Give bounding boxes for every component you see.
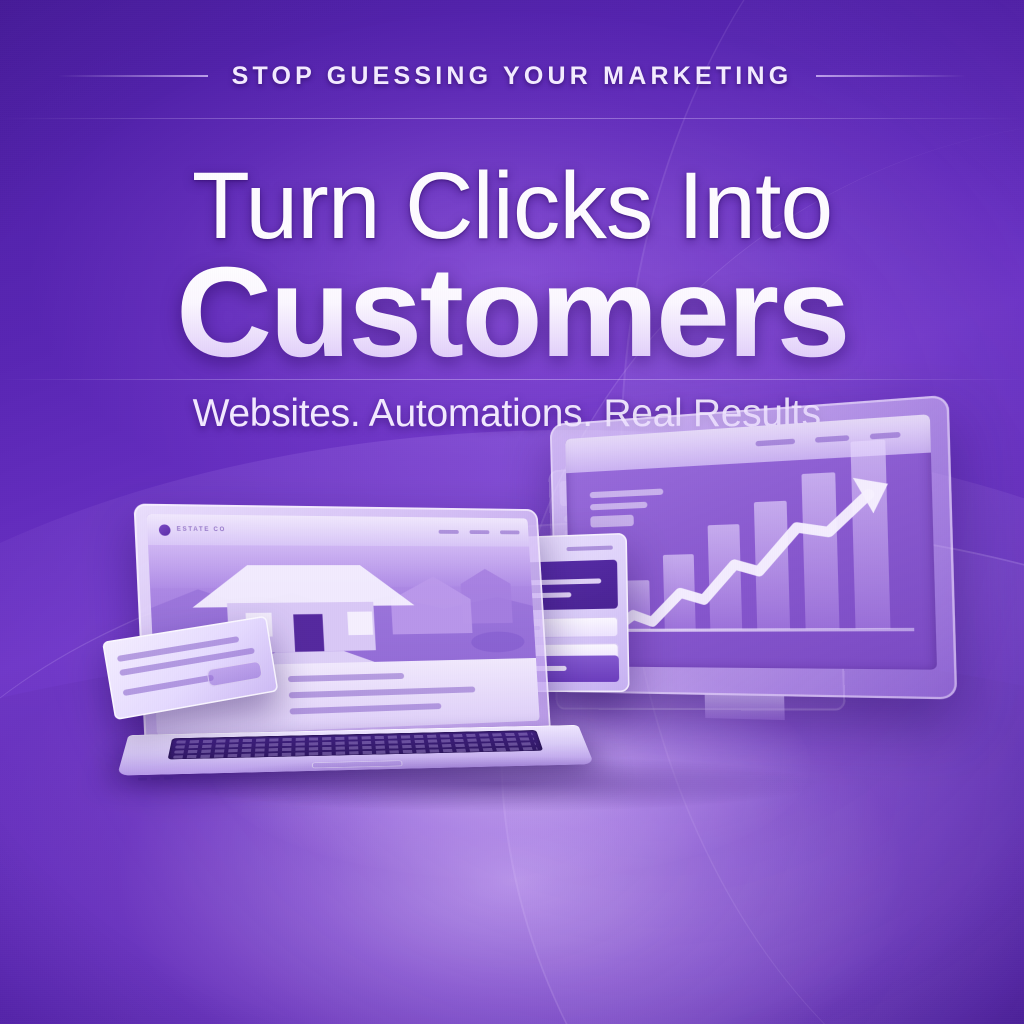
chrome-tab — [870, 432, 901, 439]
site-logo-icon — [159, 524, 171, 535]
site-body-line — [290, 703, 442, 714]
site-body-line — [289, 686, 476, 698]
floatcard-chip-button[interactable] — [206, 660, 262, 687]
headline-line-2: Customers — [0, 249, 1024, 377]
eyebrow-rule-right — [816, 75, 966, 77]
nav-item[interactable] — [439, 530, 459, 534]
chart-baseline — [591, 628, 914, 632]
site-body-line — [288, 673, 404, 682]
eyebrow-banner: STOP GUESSING YOUR MARKETING — [0, 56, 1024, 96]
device-shadow — [180, 756, 820, 812]
chrome-tab — [755, 439, 795, 447]
floatcard-line — [123, 675, 215, 697]
nav-item[interactable] — [500, 530, 520, 534]
laptop-ports — [138, 776, 173, 780]
headline-block: Turn Clicks Into Customers — [0, 158, 1024, 377]
device-stage: ESTATE CO — [0, 400, 1024, 830]
port-icon — [138, 777, 147, 780]
chrome-tab — [815, 435, 849, 443]
eyebrow-text: STOP GUESSING YOUR MARKETING — [232, 62, 793, 91]
divider-top — [0, 118, 1024, 119]
eyebrow-rule-left — [58, 75, 208, 77]
bar-chart — [588, 467, 915, 651]
port-icon — [151, 777, 160, 780]
divider-below-headline — [0, 379, 1024, 380]
trend-arrow-icon — [588, 467, 915, 651]
laptop-keyboard[interactable] — [168, 730, 544, 759]
website-nav-items[interactable] — [439, 530, 520, 534]
site-logo-text: ESTATE CO — [177, 527, 227, 533]
website-navbar: ESTATE CO — [147, 514, 530, 547]
port-icon — [164, 776, 173, 779]
monitor-stand — [704, 695, 785, 720]
nav-item[interactable] — [469, 530, 489, 534]
promo-poster: STOP GUESSING YOUR MARKETING Turn Clicks… — [0, 0, 1024, 1024]
